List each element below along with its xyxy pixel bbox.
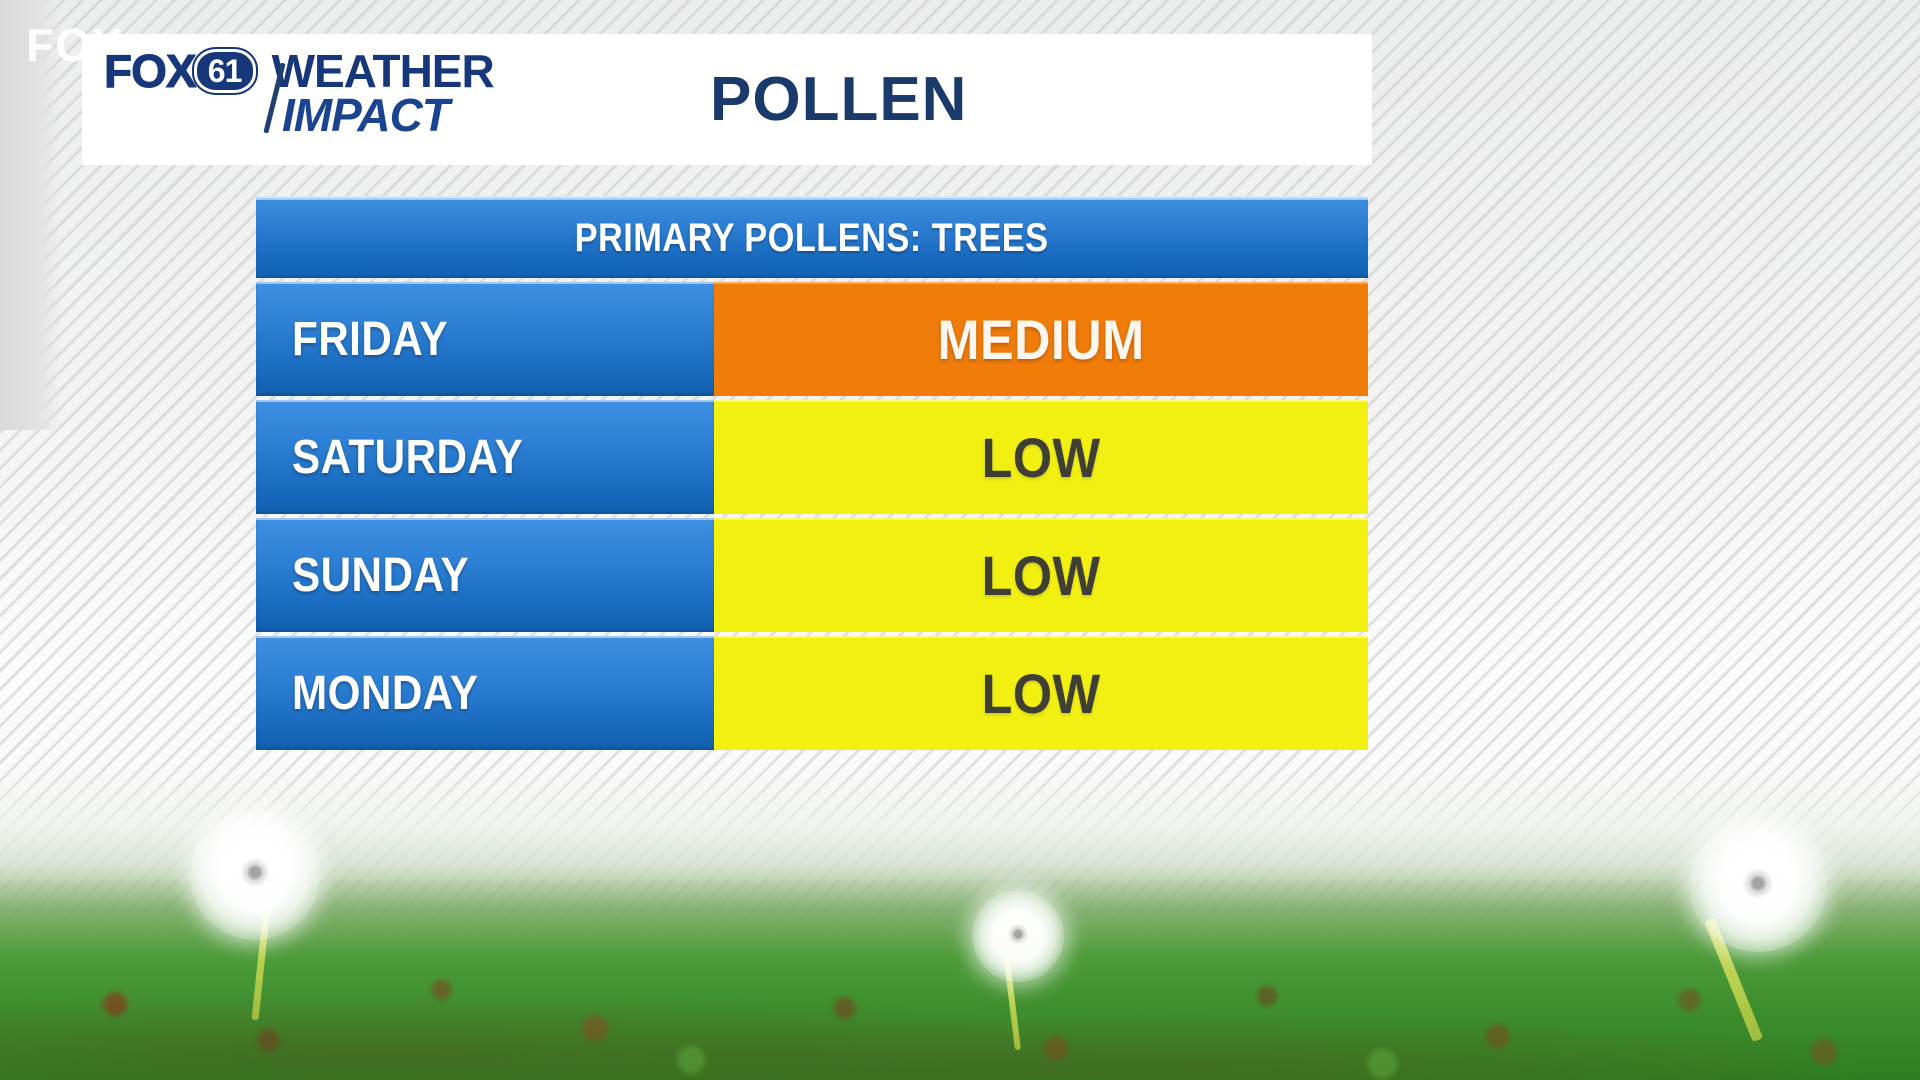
table-body: FRIDAYMEDIUMSATURDAYLOWSUNDAYLOWMONDAYLO…	[256, 282, 1368, 750]
day-cell: SUNDAY	[256, 518, 714, 632]
table-row: MONDAYLOW	[256, 636, 1368, 750]
page-title: POLLEN	[710, 64, 967, 135]
day-label: FRIDAY	[292, 312, 448, 367]
dandelion-puff	[972, 890, 1064, 982]
pollen-level-label: LOW	[982, 543, 1101, 608]
fox-wordmark: FOX	[104, 48, 196, 94]
dandelion-middle	[965, 890, 1070, 1050]
dandelion-left	[180, 810, 330, 1020]
day-cell: SATURDAY	[256, 400, 714, 514]
table-row: FRIDAYMEDIUM	[256, 282, 1368, 396]
channel-61-badge: 61	[194, 49, 256, 93]
table-header: PRIMARY POLLENS: TREES	[256, 196, 1368, 278]
day-cell: FRIDAY	[256, 282, 714, 396]
table-header-label: PRIMARY POLLENS: TREES	[575, 216, 1049, 261]
dandelion-puff	[190, 810, 320, 940]
pollen-level-label: MEDIUM	[937, 307, 1144, 372]
fox61-weather-impact-logo: FOX 61 WEATHER IMPACT	[82, 34, 602, 165]
dandelion-puff	[1689, 820, 1827, 952]
pollen-level-label: LOW	[982, 661, 1101, 726]
pollen-forecast-table: PRIMARY POLLENS: TREES FRIDAYMEDIUMSATUR…	[256, 196, 1368, 750]
weather-wordmark: WEATHER	[272, 48, 494, 94]
pollen-level-label: LOW	[982, 425, 1101, 490]
branding-panel: FOX 61 WEATHER IMPACT POLLEN	[82, 34, 1372, 165]
pollen-level-cell: MEDIUM	[714, 282, 1368, 396]
table-row: SUNDAYLOW	[256, 518, 1368, 632]
day-label: SUNDAY	[292, 548, 469, 603]
day-label: SATURDAY	[292, 430, 523, 485]
day-label: MONDAY	[292, 666, 478, 721]
impact-wordmark: IMPACT	[282, 89, 449, 141]
pollen-level-cell: LOW	[714, 636, 1368, 750]
logo-bottom-row: IMPACT	[104, 92, 602, 138]
day-cell: MONDAY	[256, 636, 714, 750]
table-row: SATURDAYLOW	[256, 400, 1368, 514]
dandelion-right	[1675, 820, 1840, 1040]
pollen-level-cell: LOW	[714, 400, 1368, 514]
pollen-level-cell: LOW	[714, 518, 1368, 632]
